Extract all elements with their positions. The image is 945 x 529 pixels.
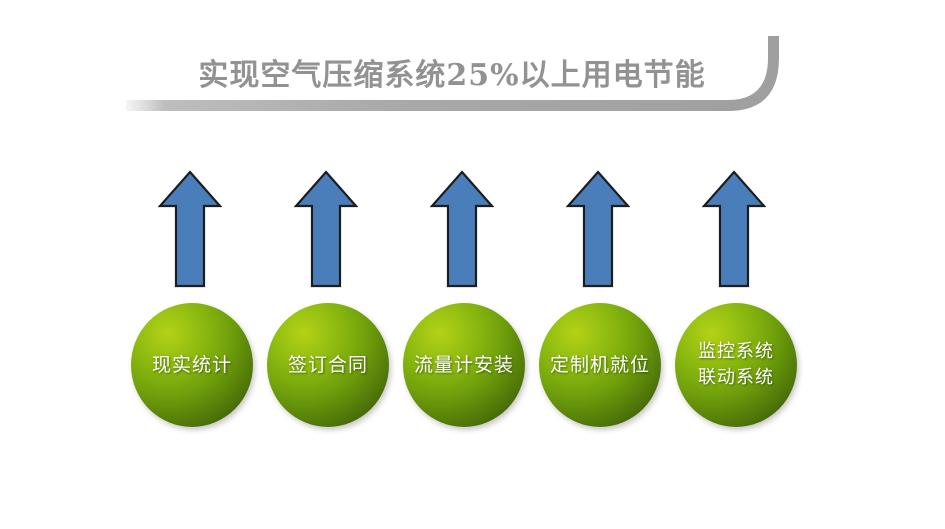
- process-node-label-2: 签订合同: [282, 353, 374, 378]
- process-node-2[interactable]: 签订合同: [267, 303, 389, 427]
- up-arrow-icon-4: [566, 170, 630, 288]
- process-node-4[interactable]: 定制机就位: [539, 303, 661, 427]
- up-arrow-icon-5: [702, 170, 766, 288]
- process-node-label-5: 监控系统 联动系统: [692, 339, 780, 391]
- title-banner: 实现空气压缩系统25%以上用电节能: [118, 34, 798, 139]
- process-node-5[interactable]: 监控系统 联动系统: [675, 303, 797, 427]
- up-arrow-icon-3: [430, 170, 494, 288]
- page-title: 实现空气压缩系统25%以上用电节能: [152, 46, 752, 106]
- up-arrow-icon-2: [294, 170, 358, 288]
- process-node-label-3: 流量计安装: [408, 353, 520, 378]
- process-node-label-1: 现实统计: [146, 353, 238, 378]
- up-arrow-icon-1: [158, 170, 222, 288]
- process-node-1[interactable]: 现实统计: [131, 303, 253, 427]
- process-node-3[interactable]: 流量计安装: [403, 303, 525, 427]
- slide-canvas: 实现空气压缩系统25%以上用电节能 现实统计 签订合同 流量计安装 定制机: [0, 0, 945, 529]
- process-node-label-4: 定制机就位: [544, 353, 656, 378]
